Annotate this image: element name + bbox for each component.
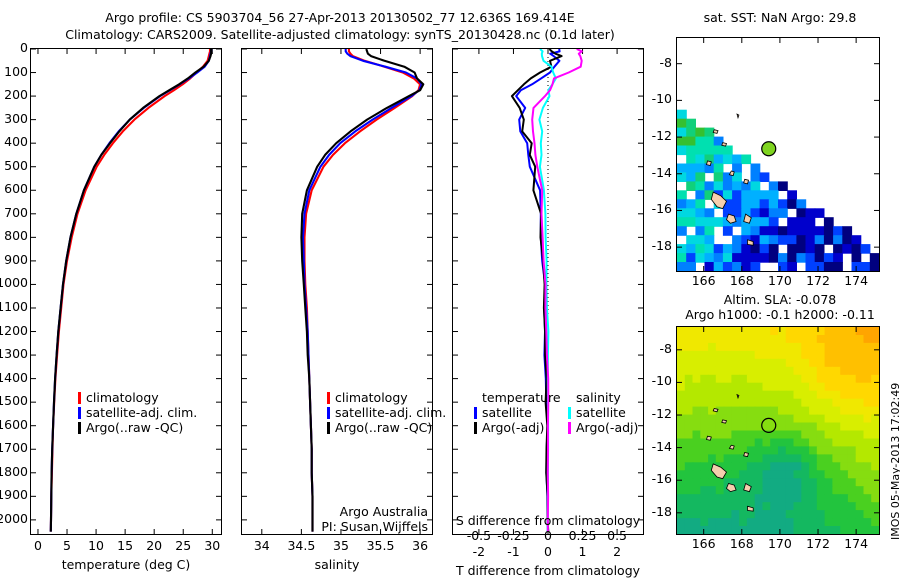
- sst-cell: [751, 190, 761, 200]
- sla-cell: [685, 518, 693, 527]
- sla-cell: [840, 439, 848, 448]
- sla-cell: [700, 399, 708, 408]
- sla-cell: [825, 399, 833, 408]
- sla-cell: [840, 327, 848, 336]
- sla-cell: [794, 510, 802, 519]
- sla-cell: [747, 431, 755, 440]
- sla-cell: [778, 423, 786, 432]
- sla-cell: [716, 510, 724, 519]
- sla-cell: [832, 502, 840, 511]
- sla-cell: [825, 415, 833, 424]
- sla-cell: [763, 351, 771, 360]
- sla-cell: [755, 462, 763, 471]
- figure-title-line1: Argo profile: CS 5903704_56 27-Apr-2013 …: [0, 10, 680, 25]
- sla-cell: [871, 359, 879, 368]
- sla-cell: [778, 502, 786, 511]
- temperature-legend: climatology satellite-adj. clim. Argo(..…: [78, 390, 197, 435]
- sla-cell: [693, 494, 701, 503]
- sla-cell: [801, 502, 809, 511]
- sla-cell: [685, 351, 693, 360]
- sla-cell: [817, 486, 825, 495]
- sla-cell: [700, 526, 708, 534]
- sla-cell: [825, 494, 833, 503]
- sla-cell: [755, 415, 763, 424]
- sla-cell: [832, 399, 840, 408]
- sla-cell: [801, 462, 809, 471]
- sla-cell: [708, 391, 716, 400]
- map-sst-xtick-172: 172: [798, 273, 838, 288]
- sla-cell: [724, 454, 732, 463]
- sla-cell: [840, 478, 848, 487]
- sla-cell: [809, 526, 817, 534]
- sla-cell: [825, 359, 833, 368]
- sla-cell: [770, 439, 778, 448]
- sla-cell: [763, 518, 771, 527]
- sla-cell: [786, 343, 794, 352]
- sst-cell: [815, 226, 825, 236]
- legend-swatch-temp-argo-adj: [474, 422, 477, 434]
- sla-cell: [778, 478, 786, 487]
- sla-cell: [700, 502, 708, 511]
- sla-cell: [739, 327, 747, 336]
- legend-item-argo-raw: Argo(..raw -QC): [78, 420, 197, 435]
- sla-cell: [848, 359, 856, 368]
- sst-cell: [705, 244, 715, 254]
- legend-swatch-satellite-adj: [78, 407, 81, 419]
- sla-cell: [724, 423, 732, 432]
- sla-cell: [840, 502, 848, 511]
- sst-cell: [732, 253, 742, 263]
- sla-cell: [755, 431, 763, 440]
- sla-cell: [871, 351, 879, 360]
- sla-cell: [755, 327, 763, 336]
- sla-cell: [731, 470, 739, 479]
- sla-cell: [832, 494, 840, 503]
- sla-cell: [724, 367, 732, 376]
- sst-cell: [760, 190, 770, 200]
- sla-cell: [801, 359, 809, 368]
- sla-cell: [747, 407, 755, 416]
- sla-cell: [763, 494, 771, 503]
- sla-cell: [739, 383, 747, 392]
- sla-cell: [763, 383, 771, 392]
- sla-cell: [856, 439, 864, 448]
- sla-cell: [825, 486, 833, 495]
- sst-cell: [741, 226, 751, 236]
- sla-cell: [731, 423, 739, 432]
- sst-cell: [695, 226, 705, 236]
- sla-cell: [809, 415, 817, 424]
- sst-cell: [677, 128, 687, 138]
- sst-cell: [870, 253, 879, 263]
- legend-item-sal-satellite: satellite: [568, 405, 638, 420]
- sla-cell: [716, 367, 724, 376]
- sla-cell: [770, 351, 778, 360]
- salinity-tick-1: 34.5: [279, 538, 323, 553]
- sla-cell: [856, 391, 864, 400]
- map-sla-xtick-174: 174: [836, 536, 876, 551]
- sla-cell: [786, 462, 794, 471]
- sla-cell: [848, 343, 856, 352]
- sla-cell: [770, 327, 778, 336]
- island-5: [744, 453, 749, 457]
- sla-cell: [786, 439, 794, 448]
- sla-cell: [809, 494, 817, 503]
- sla-cell: [786, 383, 794, 392]
- sla-cell: [801, 399, 809, 408]
- sst-cell: [815, 244, 825, 254]
- sla-cell: [825, 431, 833, 440]
- sla-cell: [716, 399, 724, 408]
- sla-cell: [848, 454, 856, 463]
- sst-cell: [778, 226, 788, 236]
- sla-cell: [724, 343, 732, 352]
- sla-cell: [739, 399, 747, 408]
- sla-cell: [848, 431, 856, 440]
- sla-cell: [755, 375, 763, 384]
- salinity-panel[interactable]: [241, 48, 433, 535]
- sst-cell: [714, 181, 724, 191]
- sst-cell: [723, 226, 733, 236]
- sla-cell: [778, 399, 786, 408]
- sla-cell: [778, 446, 786, 455]
- sla-cell: [685, 486, 693, 495]
- sla-cell: [825, 446, 833, 455]
- sst-cell: [695, 146, 705, 156]
- sla-cell: [864, 351, 872, 360]
- sla-cell: [871, 454, 879, 463]
- sst-map-title: sat. SST: NaN Argo: 29.8: [660, 10, 900, 25]
- sla-cell: [685, 335, 693, 344]
- sla-cell: [817, 415, 825, 424]
- sla-cell: [731, 407, 739, 416]
- sst-cell: [842, 226, 852, 236]
- sla-cell: [832, 335, 840, 344]
- sla-cell: [817, 470, 825, 479]
- sla-cell: [786, 502, 794, 511]
- sla-cell: [786, 391, 794, 400]
- sla-cell: [747, 367, 755, 376]
- sst-cell: [778, 208, 788, 218]
- legend-swatch-sal-argo-adj: [568, 422, 571, 434]
- sla-cell: [794, 439, 802, 448]
- sla-cell: [801, 486, 809, 495]
- sla-cell: [693, 351, 701, 360]
- sla-cell: [856, 446, 864, 455]
- sla-cell: [786, 446, 794, 455]
- legend-item-climatology-s: climatology: [327, 390, 446, 405]
- sla-cell: [739, 415, 747, 424]
- sla-cell: [832, 343, 840, 352]
- sla-cell: [825, 423, 833, 432]
- sla-cell: [778, 415, 786, 424]
- sla-cell: [724, 518, 732, 527]
- sla-cell: [755, 470, 763, 479]
- sla-cell: [685, 391, 693, 400]
- sla-cell: [801, 518, 809, 527]
- sla-cell: [700, 470, 708, 479]
- sla-cell: [786, 351, 794, 360]
- sla-cell: [724, 526, 732, 534]
- sst-cell: [778, 253, 788, 263]
- sla-cell: [856, 351, 864, 360]
- sla-cell: [693, 399, 701, 408]
- difference-legend-temperature: temperature satellite Argo(-adj): [474, 390, 561, 435]
- sla-cell: [685, 327, 693, 336]
- difference-tick-top-4: 0.5: [593, 528, 641, 543]
- sla-cell: [817, 518, 825, 527]
- sla-cell: [817, 335, 825, 344]
- map-sst-ytick--12: -12: [630, 128, 672, 143]
- sst-cell: [686, 181, 696, 191]
- sla-cell: [677, 518, 685, 527]
- sst-cell: [778, 181, 788, 191]
- sla-cell: [794, 518, 802, 527]
- sla-cell: [832, 391, 840, 400]
- sla-cell: [809, 423, 817, 432]
- sla-cell: [809, 486, 817, 495]
- sla-cell: [708, 486, 716, 495]
- sla-cell: [716, 502, 724, 511]
- sla-cell: [840, 351, 848, 360]
- sla-cell: [739, 423, 747, 432]
- sla-cell: [770, 335, 778, 344]
- sla-cell: [693, 510, 701, 519]
- sla-cell: [685, 478, 693, 487]
- sla-cell: [840, 526, 848, 534]
- sla-cell: [840, 407, 848, 416]
- sst-cell: [769, 181, 779, 191]
- sla-cell: [763, 391, 771, 400]
- sla-cell: [786, 510, 794, 519]
- sst-cell: [842, 235, 852, 245]
- sla-cell: [840, 383, 848, 392]
- sst-cell: [751, 181, 761, 191]
- sla-cell: [856, 518, 864, 527]
- sla-cell: [786, 359, 794, 368]
- salinity-xlabel: salinity: [241, 557, 433, 572]
- sst-cell: [723, 253, 733, 263]
- sla-cell: [770, 399, 778, 408]
- sla-cell: [848, 423, 856, 432]
- island-5: [744, 179, 749, 184]
- sst-cell: [686, 172, 696, 182]
- sla-cell: [856, 502, 864, 511]
- sla-cell: [825, 526, 833, 534]
- sla-cell: [731, 375, 739, 384]
- sla-cell: [778, 351, 786, 360]
- sla-cell: [708, 343, 716, 352]
- sla-cell: [840, 367, 848, 376]
- sla-cell: [871, 335, 879, 344]
- sla-map-title-line2: Argo h1000: -0.1 h2000: -0.11: [660, 307, 900, 322]
- sst-cell: [815, 208, 825, 218]
- sla-cell: [685, 343, 693, 352]
- sla-cell: [856, 462, 864, 471]
- sla-cell: [716, 327, 724, 336]
- sla-cell: [770, 359, 778, 368]
- sla-cell: [786, 335, 794, 344]
- sla-cell: [747, 359, 755, 368]
- sla-cell: [817, 510, 825, 519]
- sla-cell: [731, 335, 739, 344]
- sla-cell: [871, 415, 879, 424]
- sla-cell: [848, 407, 856, 416]
- sla-cell: [763, 335, 771, 344]
- sst-cell: [695, 164, 705, 174]
- sla-cell: [677, 502, 685, 511]
- sla-cell: [825, 439, 833, 448]
- sst-cell: [833, 226, 843, 236]
- sst-cell: [751, 208, 761, 218]
- sla-cell: [693, 391, 701, 400]
- sla-cell: [864, 526, 872, 534]
- depth-tick-700: 700: [0, 205, 28, 220]
- sla-cell: [763, 367, 771, 376]
- sla-cell: [809, 502, 817, 511]
- sla-cell: [864, 359, 872, 368]
- sla-cell: [794, 343, 802, 352]
- depth-tick-600: 600: [0, 181, 28, 196]
- sla-cell: [693, 431, 701, 440]
- sst-cell: [806, 244, 816, 254]
- sst-cell: [732, 262, 742, 271]
- sst-cell: [751, 199, 761, 209]
- sla-cell: [763, 343, 771, 352]
- sla-cell: [786, 415, 794, 424]
- sla-cell: [832, 327, 840, 336]
- sla-cell: [778, 518, 786, 527]
- sla-cell: [685, 502, 693, 511]
- sla-cell: [786, 518, 794, 527]
- sla-cell: [770, 383, 778, 392]
- sla-cell: [724, 375, 732, 384]
- sla-cell: [848, 327, 856, 336]
- sla-cell: [693, 415, 701, 424]
- sla-cell: [693, 462, 701, 471]
- map-sst-xtick-170: 170: [760, 273, 800, 288]
- sla-cell: [763, 327, 771, 336]
- sla-cell: [708, 510, 716, 519]
- sla-cell: [708, 383, 716, 392]
- credit-line2: PI: Susan Wijffels: [230, 519, 428, 534]
- sla-cell: [755, 407, 763, 416]
- sla-cell: [778, 335, 786, 344]
- sla-cell: [708, 367, 716, 376]
- sla-cell: [677, 462, 685, 471]
- sla-cell: [747, 391, 755, 400]
- sla-cell: [770, 375, 778, 384]
- sla-cell: [832, 383, 840, 392]
- sla-cell: [825, 518, 833, 527]
- sst-cell: [732, 190, 742, 200]
- sla-cell: [856, 399, 864, 408]
- sla-cell: [677, 415, 685, 424]
- sla-cell: [739, 431, 747, 440]
- temperature-panel[interactable]: [30, 48, 222, 535]
- sla-cell: [840, 454, 848, 463]
- sla-cell: [848, 510, 856, 519]
- sla-cell: [856, 335, 864, 344]
- sla-cell: [685, 526, 693, 534]
- depth-tick-900: 900: [0, 252, 28, 267]
- sla-cell: [864, 518, 872, 527]
- sla-cell: [724, 335, 732, 344]
- sst-cell: [695, 137, 705, 147]
- sst-cell: [705, 208, 715, 218]
- sla-cell: [778, 407, 786, 416]
- sst-cell: [732, 181, 742, 191]
- sst-cell: [751, 262, 761, 271]
- sla-cell: [871, 399, 879, 408]
- difference-xlabel-top: S difference from climatology: [452, 513, 644, 528]
- map-sst-ytick--18: -18: [630, 238, 672, 253]
- sst-cell: [861, 244, 871, 254]
- sla-cell: [794, 502, 802, 511]
- sst-map[interactable]: [676, 37, 880, 272]
- sst-cell: [815, 235, 825, 245]
- sst-cell: [769, 190, 779, 200]
- sla-cell: [731, 431, 739, 440]
- sla-cell: [809, 431, 817, 440]
- sla-cell: [794, 399, 802, 408]
- sla-cell: [809, 518, 817, 527]
- sla-cell: [755, 478, 763, 487]
- sla-cell: [856, 423, 864, 432]
- sla-cell: [778, 486, 786, 495]
- sla-cell: [832, 415, 840, 424]
- sla-cell: [763, 407, 771, 416]
- sla-cell: [848, 470, 856, 479]
- sst-cell: [695, 235, 705, 245]
- sla-cell: [716, 478, 724, 487]
- sla-cell: [817, 446, 825, 455]
- sla-cell: [708, 518, 716, 527]
- sla-cell: [731, 494, 739, 503]
- sla-cell: [840, 359, 848, 368]
- sla-cell: [778, 383, 786, 392]
- sla-cell: [864, 383, 872, 392]
- sla-cell: [840, 462, 848, 471]
- sst-cell: [732, 199, 742, 209]
- sla-cell: [801, 367, 809, 376]
- sst-cell: [861, 262, 871, 271]
- sla-map[interactable]: [676, 326, 880, 535]
- sla-cell: [848, 415, 856, 424]
- sla-cell: [801, 327, 809, 336]
- sla-cell: [848, 391, 856, 400]
- depth-tick-2000: 2000: [0, 511, 28, 526]
- sla-cell: [763, 478, 771, 487]
- sla-cell: [832, 367, 840, 376]
- sst-cell: [806, 235, 816, 245]
- sst-cell: [833, 235, 843, 245]
- island-6: [707, 436, 712, 440]
- sst-cell: [686, 217, 696, 227]
- sla-cell: [693, 486, 701, 495]
- sla-cell: [825, 454, 833, 463]
- sla-cell: [739, 470, 747, 479]
- sst-cell: [723, 146, 733, 156]
- difference-panel[interactable]: [452, 48, 644, 535]
- depth-tick-1900: 1900: [0, 487, 28, 502]
- legend-item-temp-satellite: satellite: [474, 405, 561, 420]
- sst-cell: [686, 164, 696, 174]
- sla-cell: [848, 486, 856, 495]
- sla-cell: [817, 494, 825, 503]
- sla-cell: [817, 454, 825, 463]
- sla-cell: [848, 367, 856, 376]
